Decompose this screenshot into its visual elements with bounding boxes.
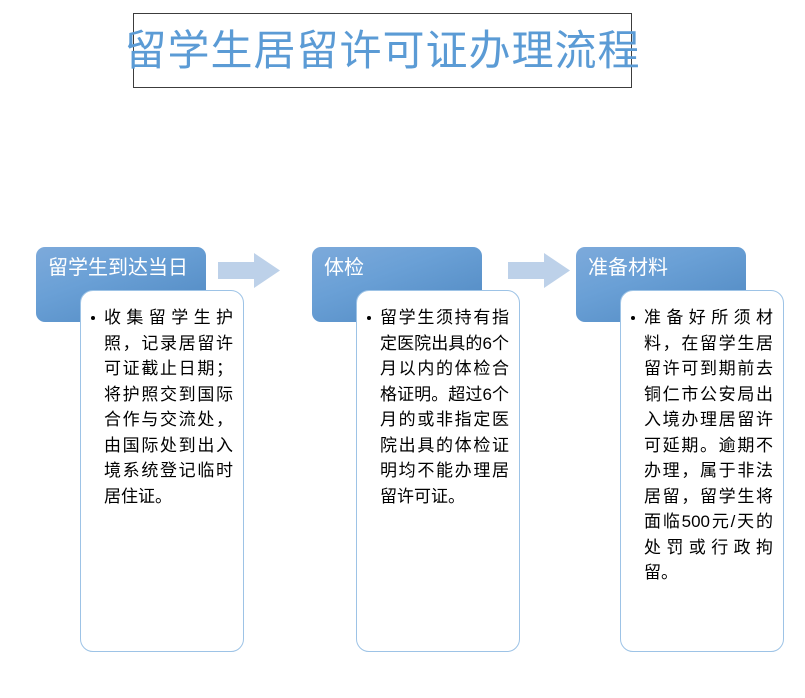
right-arrow-icon [218, 253, 280, 288]
flow-stage-1-body[interactable]: 收集留学生护照，记录居留许可证截止日期；将护照交到国际合作与交流处，由国际处到出… [80, 290, 244, 652]
flow-stage-3-header-label: 准备材料 [588, 255, 668, 281]
process-flow-diagram: 留学生到达当日 收集留学生护照，记录居留许可证截止日期；将护照交到国际合作与交流… [0, 0, 805, 698]
flow-stage-2-list: 留学生须持有指定医院出具的6个月以内的体检合格证明。超过6个月的或非指定医院出具… [364, 305, 509, 509]
flow-stage-3-list: 准备好所须材料，在留学生居留许可到期前去铜仁市公安局出入境办理居留许可延期。逾期… [628, 305, 773, 586]
flow-stage-1-header-label: 留学生到达当日 [48, 255, 188, 281]
flow-stage-3-body[interactable]: 准备好所须材料，在留学生居留许可到期前去铜仁市公安局出入境办理居留许可延期。逾期… [620, 290, 784, 652]
list-item: 收集留学生护照，记录居留许可证截止日期；将护照交到国际合作与交流处，由国际处到出… [88, 305, 233, 509]
list-item: 留学生须持有指定医院出具的6个月以内的体检合格证明。超过6个月的或非指定医院出具… [364, 305, 509, 509]
flow-stage-2-body[interactable]: 留学生须持有指定医院出具的6个月以内的体检合格证明。超过6个月的或非指定医院出具… [356, 290, 520, 652]
flow-stage-2-header-label: 体检 [324, 255, 364, 281]
flow-stage-1-list: 收集留学生护照，记录居留许可证截止日期；将护照交到国际合作与交流处，由国际处到出… [88, 305, 233, 509]
right-arrow-icon [508, 253, 570, 288]
list-item: 准备好所须材料，在留学生居留许可到期前去铜仁市公安局出入境办理居留许可延期。逾期… [628, 305, 773, 586]
